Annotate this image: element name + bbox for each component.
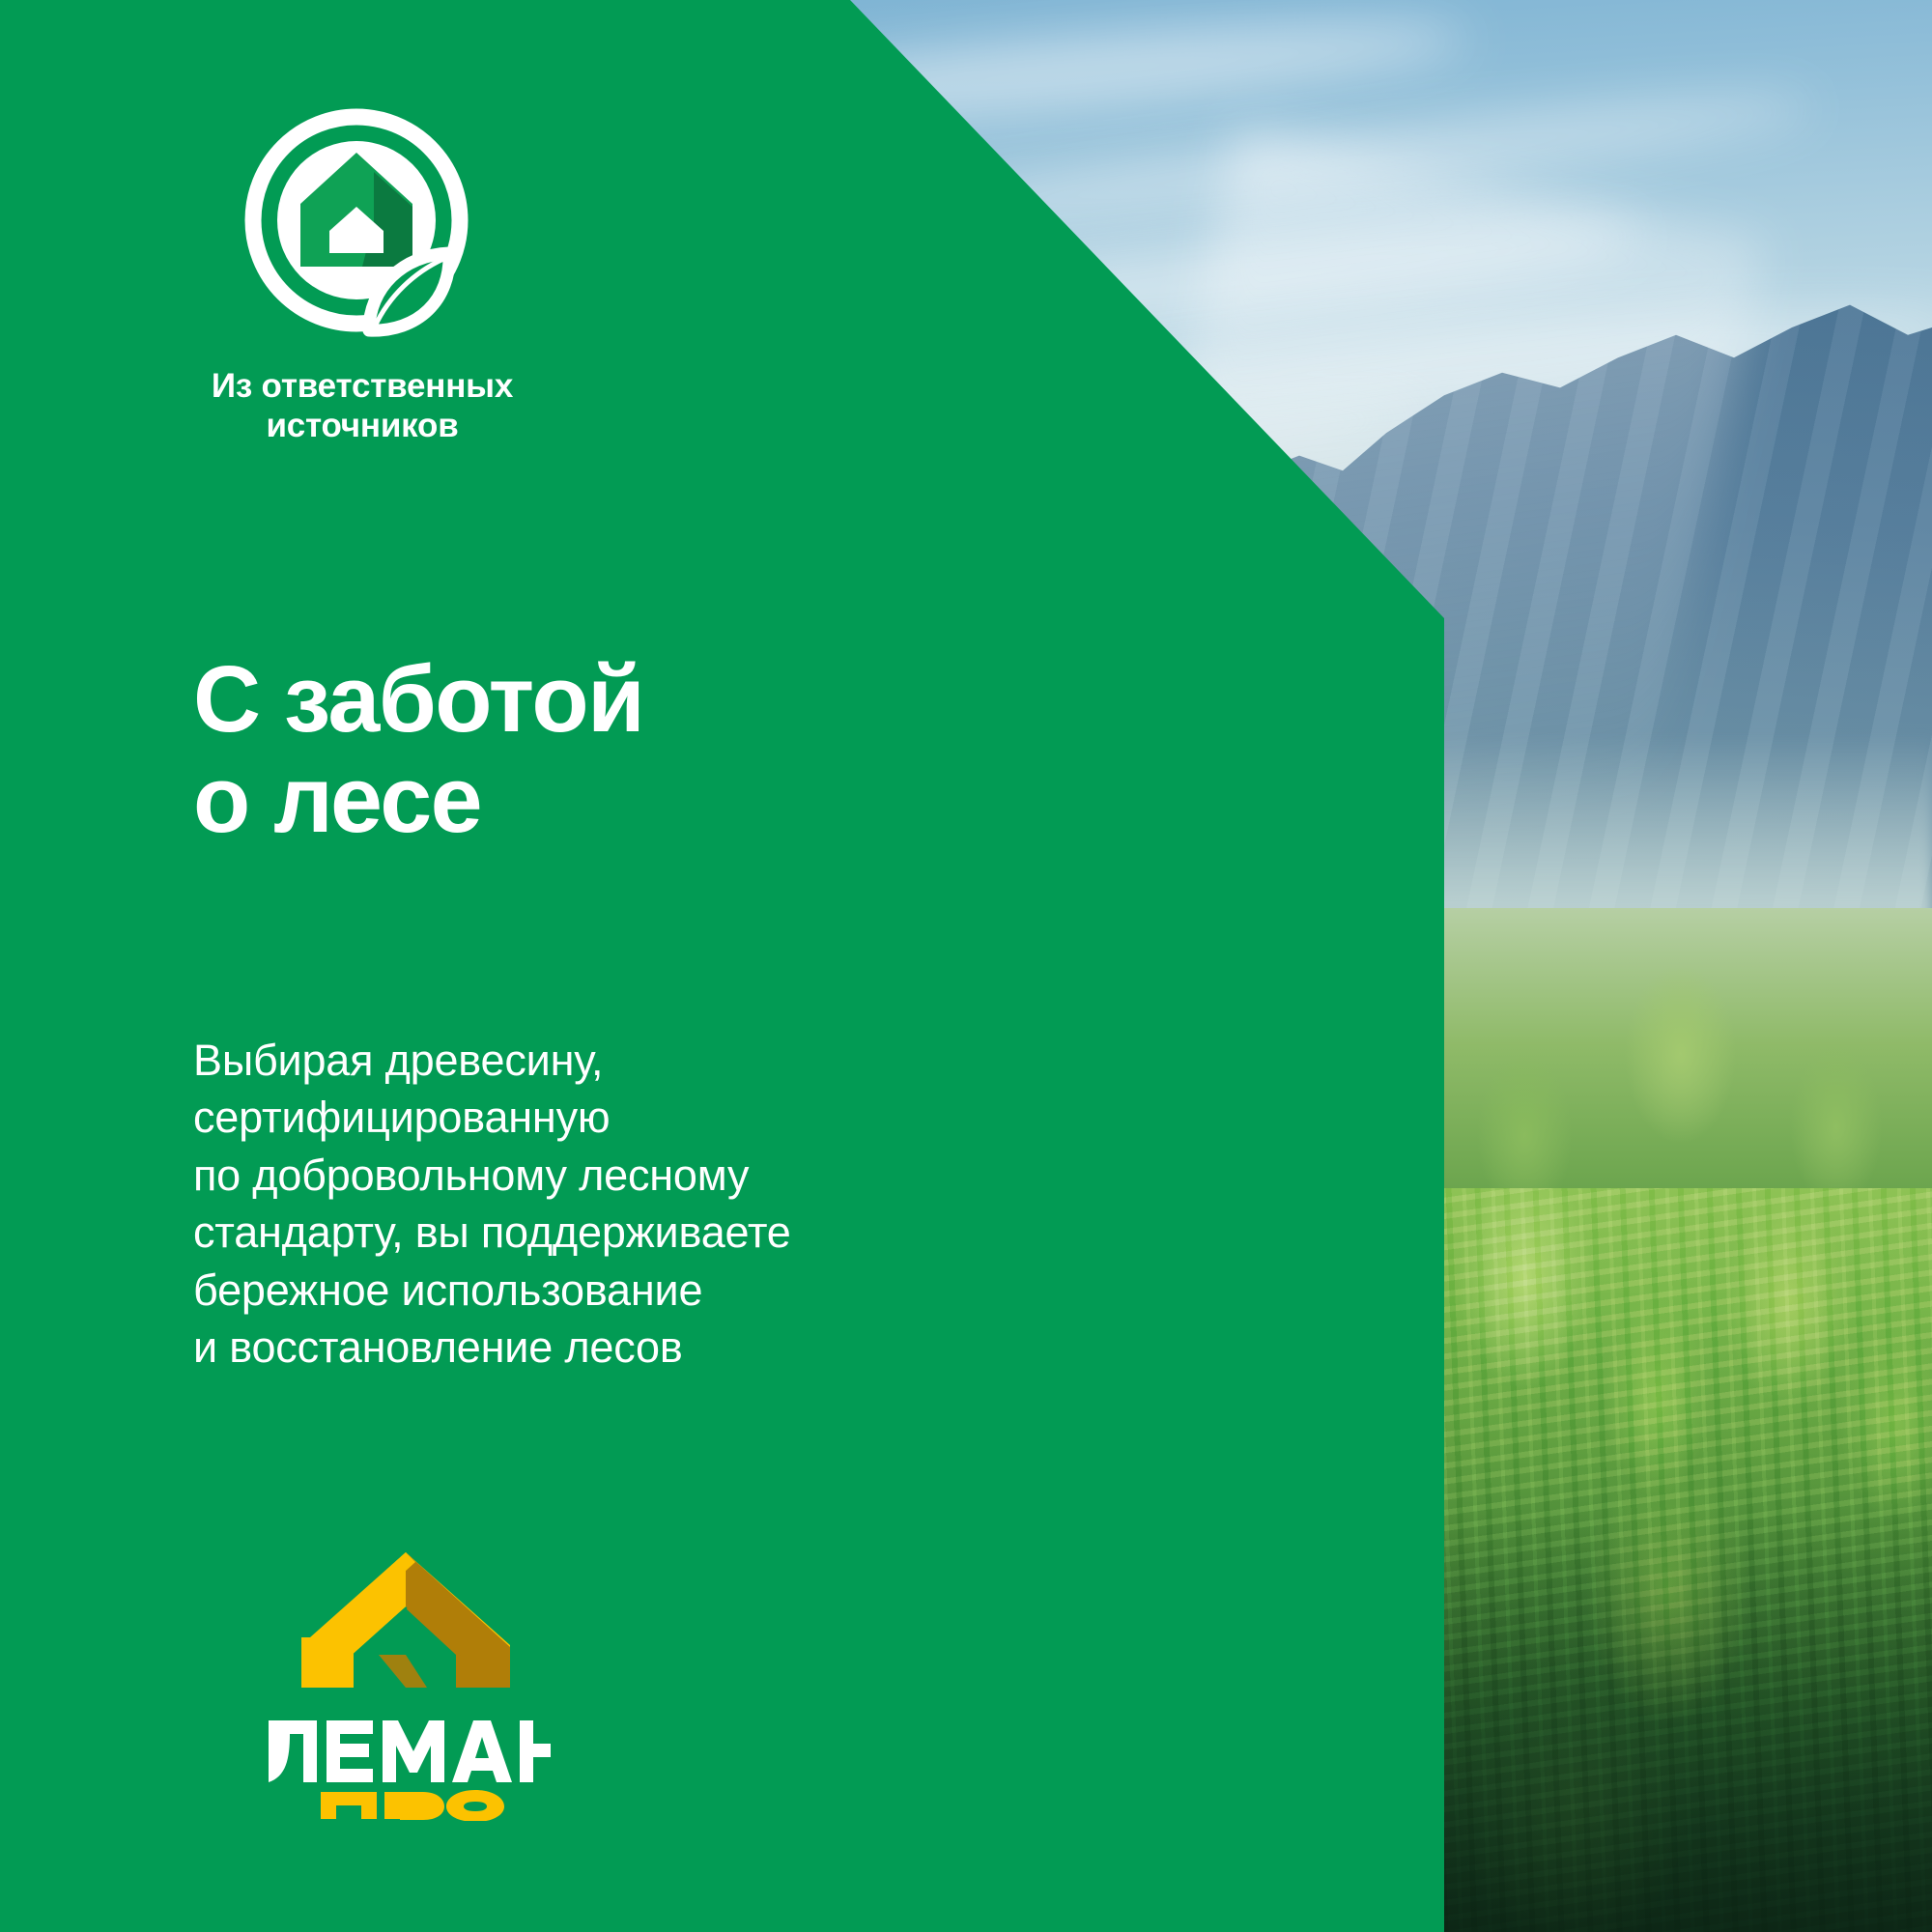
- lemana-brand-lockup: [261, 1541, 551, 1821]
- page-title: С заботой о лесе: [193, 649, 643, 850]
- house-leaf-circle-icon: [242, 106, 482, 346]
- lemana-house-icon: [301, 1552, 510, 1688]
- body-copy: Выбирая древесину, сертифицированную по …: [193, 1032, 791, 1376]
- eco-badge-caption: Из ответственных источников: [188, 367, 536, 446]
- lemana-tagline: [321, 1790, 504, 1821]
- poster-canvas: Из ответственных источников С заботой о …: [0, 0, 1932, 1932]
- lemana-wordmark: [269, 1720, 551, 1782]
- content-layer: Из ответственных источников С заботой о …: [0, 0, 1932, 1932]
- eco-badge: Из ответственных источников: [188, 106, 536, 446]
- lemana-pro-logo: [232, 1541, 580, 1821]
